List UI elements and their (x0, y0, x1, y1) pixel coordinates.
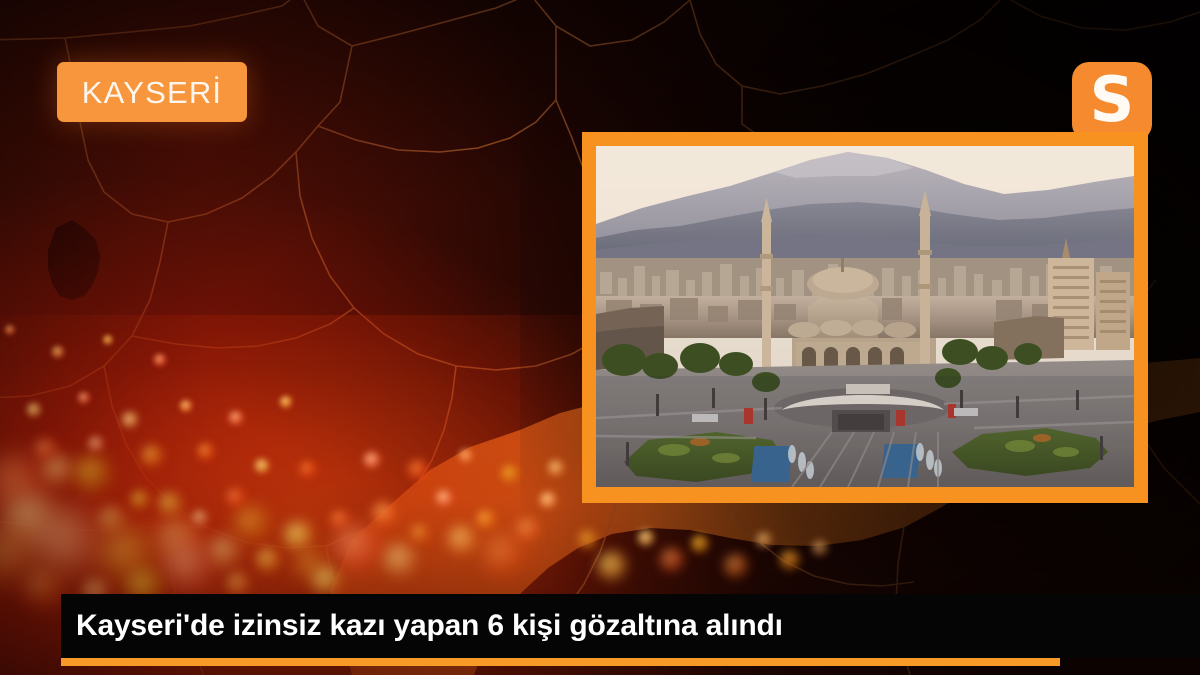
news-card: KAYSERİ S (0, 0, 1200, 675)
s-logo[interactable]: S (1072, 62, 1152, 141)
headline-bar: Kayseri'de izinsiz kazı yapan 6 kişi göz… (61, 594, 1200, 658)
city-badge: KAYSERİ (57, 62, 247, 122)
headline-text: Kayseri'de izinsiz kazı yapan 6 kişi göz… (61, 611, 783, 641)
news-photo (596, 146, 1134, 487)
kayseri-cityscape-illustration (596, 146, 1134, 487)
headline-underline (61, 658, 1060, 666)
photo-frame (582, 132, 1148, 503)
logo-letter: S (1090, 69, 1135, 131)
city-badge-label: KAYSERİ (82, 77, 222, 108)
